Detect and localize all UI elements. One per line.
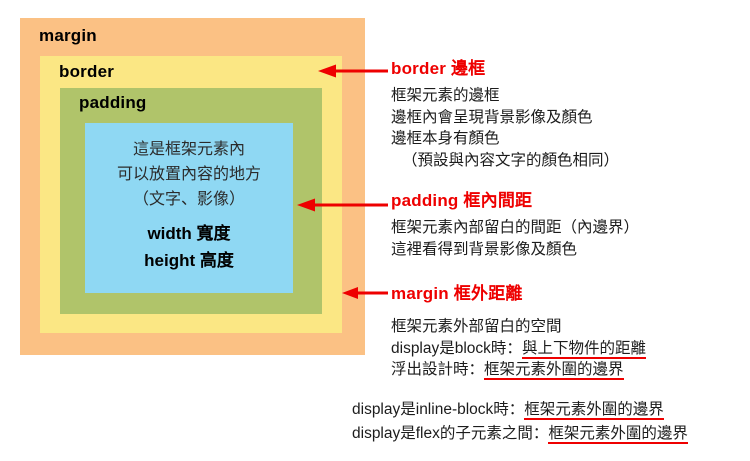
annotation-margin-title: margin 框外距離 (391, 283, 646, 305)
annotation-padding: padding 框內間距 框架元素內部留白的間距（內邊界） 這裡看得到背景影像及… (391, 190, 639, 260)
content-width-label: width 寬度 (85, 220, 293, 247)
annotation-margin-line-2-prefix: display是block時： (391, 340, 522, 357)
annotation-extra: display是inline-block時：框架元素外圍的邊界 display是… (352, 398, 688, 446)
annotation-border-title: border 邊框 (391, 58, 619, 80)
annotation-padding-line-1: 框架元素內部留白的間距（內邊界） (391, 217, 639, 239)
annotation-border-line-4: （預設與內容文字的顏色相同） (391, 150, 619, 172)
annotation-padding-body: 框架元素內部留白的間距（內邊界） 這裡看得到背景影像及顏色 (391, 217, 639, 260)
annotation-padding-title: padding 框內間距 (391, 190, 639, 212)
box-margin-region: margin border padding 這是框架元素內 可以放置內容的地方 … (20, 18, 365, 355)
annotation-border-line-3: 邊框本身有顏色 (391, 128, 619, 150)
annotation-extra-line-1-underline: 框架元素外圍的邊界 (524, 401, 664, 420)
annotation-margin-body: 框架元素外部留白的空間 display是block時：與上下物件的距離 浮出設計… (391, 316, 646, 381)
annotation-border-body: 框架元素的邊框 邊框內會呈現背景影像及顏色 邊框本身有顏色 （預設與內容文字的顏… (391, 85, 619, 171)
annotation-margin-line-3-prefix: 浮出設計時： (391, 361, 484, 378)
annotation-extra-line-2-underline: 框架元素外圍的邊界 (548, 425, 688, 444)
annotation-margin-line-1: 框架元素外部留白的空間 (391, 316, 646, 338)
annotation-margin-line-2-underline: 與上下物件的距離 (522, 340, 646, 359)
box-content-text: 這是框架元素內 可以放置內容的地方 （文字、影像） width 寬度 heigh… (85, 137, 293, 274)
annotation-border-line-1: 框架元素的邊框 (391, 85, 619, 107)
content-line-3: （文字、影像） (85, 187, 293, 212)
content-line-1: 這是框架元素內 (85, 137, 293, 162)
box-padding-region: padding 這是框架元素內 可以放置內容的地方 （文字、影像） width … (60, 88, 322, 314)
annotation-margin: margin 框外距離 框架元素外部留白的空間 display是block時：與… (391, 283, 646, 381)
annotation-extra-line-1-prefix: display是inline-block時： (352, 401, 524, 418)
box-margin-label: margin (39, 26, 97, 46)
box-border-label: border (59, 62, 114, 82)
box-content-region: 這是框架元素內 可以放置內容的地方 （文字、影像） width 寬度 heigh… (85, 123, 293, 293)
annotation-border-line-2: 邊框內會呈現背景影像及顏色 (391, 107, 619, 129)
annotation-margin-line-3: 浮出設計時：框架元素外圍的邊界 (391, 359, 646, 381)
box-padding-label: padding (79, 93, 147, 113)
annotation-border: border 邊框 框架元素的邊框 邊框內會呈現背景影像及顏色 邊框本身有顏色 … (391, 58, 619, 171)
annotation-extra-line-1: display是inline-block時：框架元素外圍的邊界 (352, 398, 688, 422)
annotation-padding-line-2: 這裡看得到背景影像及顏色 (391, 239, 639, 261)
annotation-margin-line-2: display是block時：與上下物件的距離 (391, 338, 646, 360)
box-border-region: border padding 這是框架元素內 可以放置內容的地方 （文字、影像）… (40, 56, 342, 333)
annotation-extra-line-2-prefix: display是flex的子元素之間： (352, 425, 548, 442)
content-line-2: 可以放置內容的地方 (85, 162, 293, 187)
content-height-label: height 高度 (85, 247, 293, 274)
annotation-extra-line-2: display是flex的子元素之間：框架元素外圍的邊界 (352, 422, 688, 446)
annotation-margin-line-3-underline: 框架元素外圍的邊界 (484, 361, 624, 380)
